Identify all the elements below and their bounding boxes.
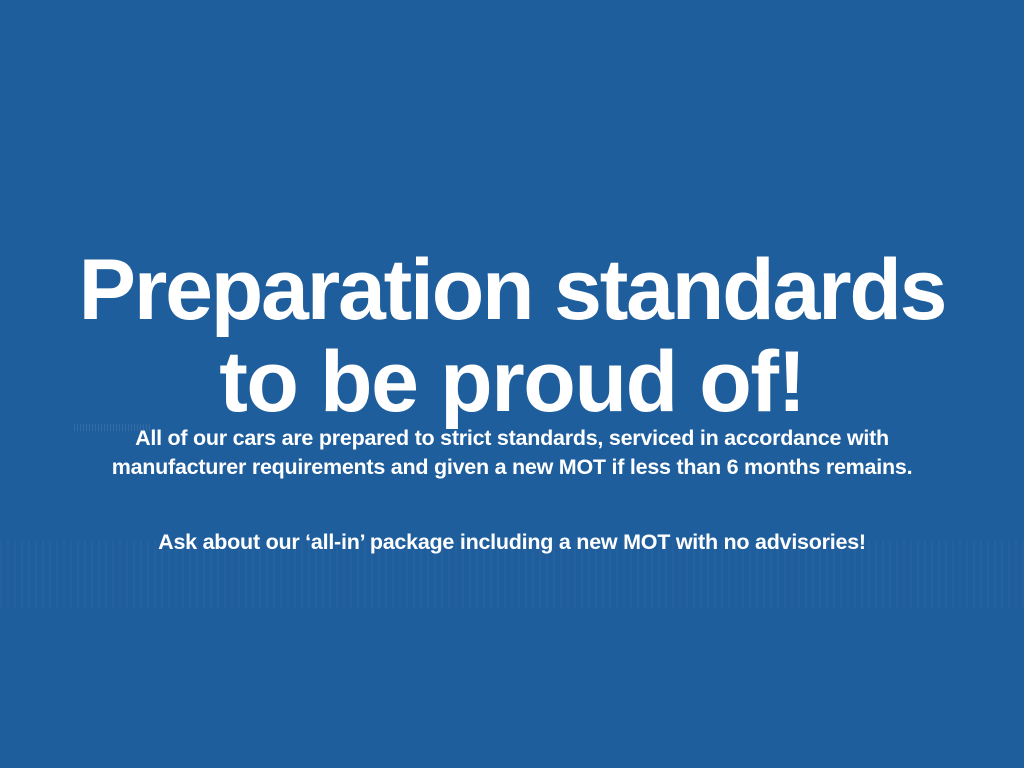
page-title: Preparation standards to be proud of! [0,244,1024,428]
body-paragraph-primary: All of our cars are prepared to strict s… [67,424,957,482]
page-title-line-2: to be proud of! [0,336,1024,428]
body-paragraph-secondary: Ask about our ‘all-in’ package including… [52,528,972,557]
slide-canvas: Preparation standards to be proud of! Al… [0,0,1024,768]
page-title-line-1: Preparation standards [0,244,1024,336]
